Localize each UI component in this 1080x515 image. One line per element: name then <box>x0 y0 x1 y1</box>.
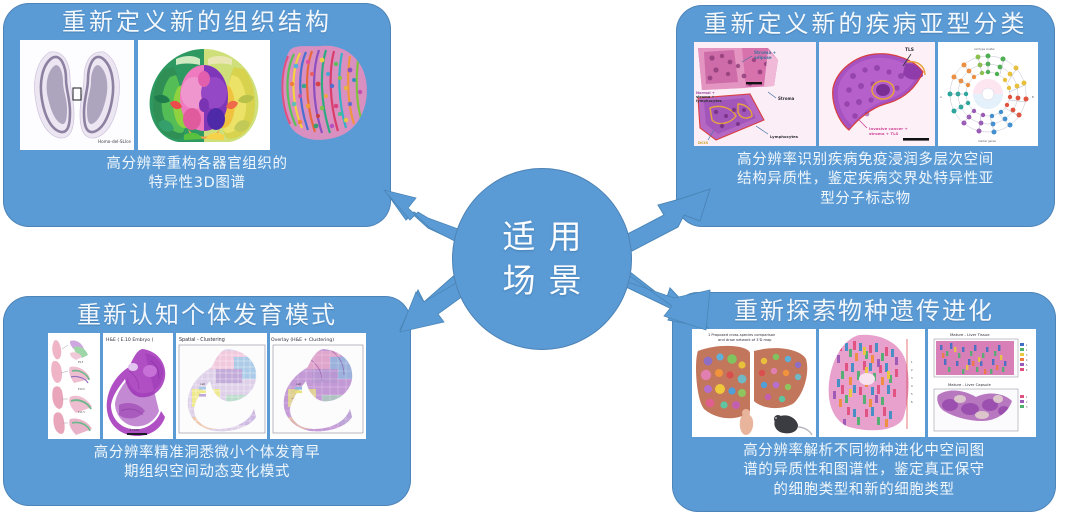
hub-label-line-1: 适用 <box>490 215 595 259</box>
caption-line-1: 高分辨率重构各器官组织的 <box>19 155 375 174</box>
hub-label-line-2: 场景 <box>490 259 595 303</box>
breast-tumour-histology-annotated-figure: Stroma + adipose Normal + stroma + lymph… <box>694 42 816 146</box>
panel-disease-subtype[interactable]: 重新定义新的疾病亚型分类 <box>676 5 1055 227</box>
svg-text:Mature - Liver Capsule: Mature - Liver Capsule <box>948 382 991 387</box>
svg-text:cell: cell <box>296 382 301 386</box>
figure-strip: Stroma + adipose Normal + stroma + lymph… <box>694 42 1038 146</box>
svg-text:stroma + TLS: stroma + TLS <box>869 131 899 136</box>
svg-text:E9.5: E9.5 <box>78 361 84 364</box>
arrow-to-bottom-right-icon <box>614 272 714 350</box>
circular-cell-type-dendrogram-figure: cell type cluster AB marker genes <box>938 42 1038 146</box>
svg-text:adipose: adipose <box>754 55 772 60</box>
svg-text:Mature - Liver Tissue: Mature - Liver Tissue <box>950 332 990 337</box>
svg-text:Lymphocytes: Lymphocytes <box>770 134 799 139</box>
invasive-cancer-tls-annotation-figure: TLS Invasive cancer + stroma + TLS <box>819 42 935 146</box>
caption-line-1: 高分辨率精准洞悉微小个体发育早 <box>19 444 395 463</box>
svg-text:Spatial - Clustering: Spatial - Clustering <box>179 337 225 343</box>
liver-spatial-celltype-map-figure: 123 456 <box>819 329 925 437</box>
svg-text:TLS: TLS <box>905 47 914 53</box>
svg-text:E11.5: E11.5 <box>78 411 85 414</box>
svg-text:cell: cell <box>200 382 205 386</box>
histology-section-hande-figure: Homo-del-SLIce <box>20 40 134 150</box>
svg-text:Stroma: Stroma <box>778 96 795 101</box>
caption-line-1: 高分辨率解析不同物种进化中空间图 <box>688 442 1040 461</box>
svg-text:1 mm: 1 mm <box>129 428 140 432</box>
mature-liver-tissue-map-figure: Mature - Liver Tissue <box>928 329 1036 437</box>
svg-text:lymphocytes: lymphocytes <box>696 99 722 103</box>
figure-strip: E9.5E10.5E11.5 H&E ( E.10 Embryo ) <box>48 333 366 439</box>
arrow-to-top-right-icon <box>618 181 714 253</box>
caption-line-3: 型分子标志物 <box>692 190 1039 209</box>
panel-title: 重新认知个体发育模式 <box>3 296 411 328</box>
panel-caption: 高分辨率识别疾病免疫浸润多层次空间 结构异质性，鉴定疾病交界处特异性亚 型分子标… <box>676 146 1055 209</box>
panel-caption: 高分辨率重构各器官组织的 特异性3D图谱 <box>3 150 391 194</box>
panel-title: 重新定义新的疾病亚型分类 <box>676 5 1055 37</box>
hande-embryo-section-figure: H&E ( E.10 Embryo ) 1 mm <box>103 333 173 439</box>
spatial-clustering-map-figure: Spatial - Clustering <box>176 333 268 439</box>
panel-caption: 高分辨率解析不同物种进化中空间图 谱的异质性和图谱性，鉴定真正保守 的细胞类型和… <box>672 437 1056 500</box>
hub-circle[interactable]: 适用 场景 <box>452 168 632 350</box>
panel-tissue-structure[interactable]: 重新定义新的组织结构 Homo-del-SLIce <box>3 3 391 227</box>
embryo-schematic-series-figure: E9.5E10.5E11.5 <box>48 333 100 439</box>
svg-text:marker genes: marker genes <box>978 139 997 143</box>
panel-caption: 高分辨率精准洞悉微小个体发育早 期组织空间动态变化模式 <box>3 439 411 483</box>
panel-title: 重新定义新的组织结构 <box>3 3 391 35</box>
svg-text:cell type cluster: cell type cluster <box>974 47 996 51</box>
svg-text:B: B <box>1032 95 1034 99</box>
caption-line-2: 谱的异质性和图谱性，鉴定真正保守 <box>688 461 1040 480</box>
mouse-brain-reference-atlas-figure <box>138 40 270 150</box>
spatial-clustering-brain-map-figure <box>274 40 374 150</box>
svg-text:Overlay (H&E + Clustering): Overlay (H&E + Clustering) <box>271 337 334 343</box>
svg-text:Homo-del-SLIce: Homo-del-SLIce <box>98 139 131 144</box>
panel-species-evolution[interactable]: 重新探索物种遗传进化 1 Proposed cross-species comp… <box>672 292 1056 512</box>
overlay-hande-clustering-map-figure: Overlay (H&E + Clustering) <box>270 333 366 439</box>
caption-line-2: 期组织空间动态变化模式 <box>19 463 395 482</box>
svg-text:1 Proposed cross-species compa: 1 Proposed cross-species comparison <box>708 333 775 337</box>
svg-text:E10.5: E10.5 <box>78 388 85 391</box>
caption-line-2: 特异性3D图谱 <box>19 174 375 193</box>
diagram-canvas: 重新定义新的组织结构 Homo-del-SLIce <box>0 0 1080 515</box>
svg-text:A: A <box>940 95 942 99</box>
svg-text:and draw network of 3'D map: and draw network of 3'D map <box>718 338 772 342</box>
panel-development-pattern[interactable]: 重新认知个体发育模式 <box>3 296 411 506</box>
svg-text:H&E ( E.10 Embryo ): H&E ( E.10 Embryo ) <box>106 337 153 343</box>
figure-strip: 1 Proposed cross-species comparison and … <box>692 329 1036 437</box>
caption-line-2: 结构异质性，鉴定疾病交界处特异性亚 <box>692 170 1039 189</box>
caption-line-3: 的细胞类型和新的细胞类型 <box>688 481 1040 500</box>
panel-title: 重新探索物种遗传进化 <box>672 292 1056 324</box>
caption-line-1: 高分辨率识别疾病免疫浸润多层次空间 <box>692 151 1039 170</box>
svg-text:DCIS: DCIS <box>698 140 708 145</box>
figure-strip: Homo-del-SLIce <box>18 40 376 150</box>
